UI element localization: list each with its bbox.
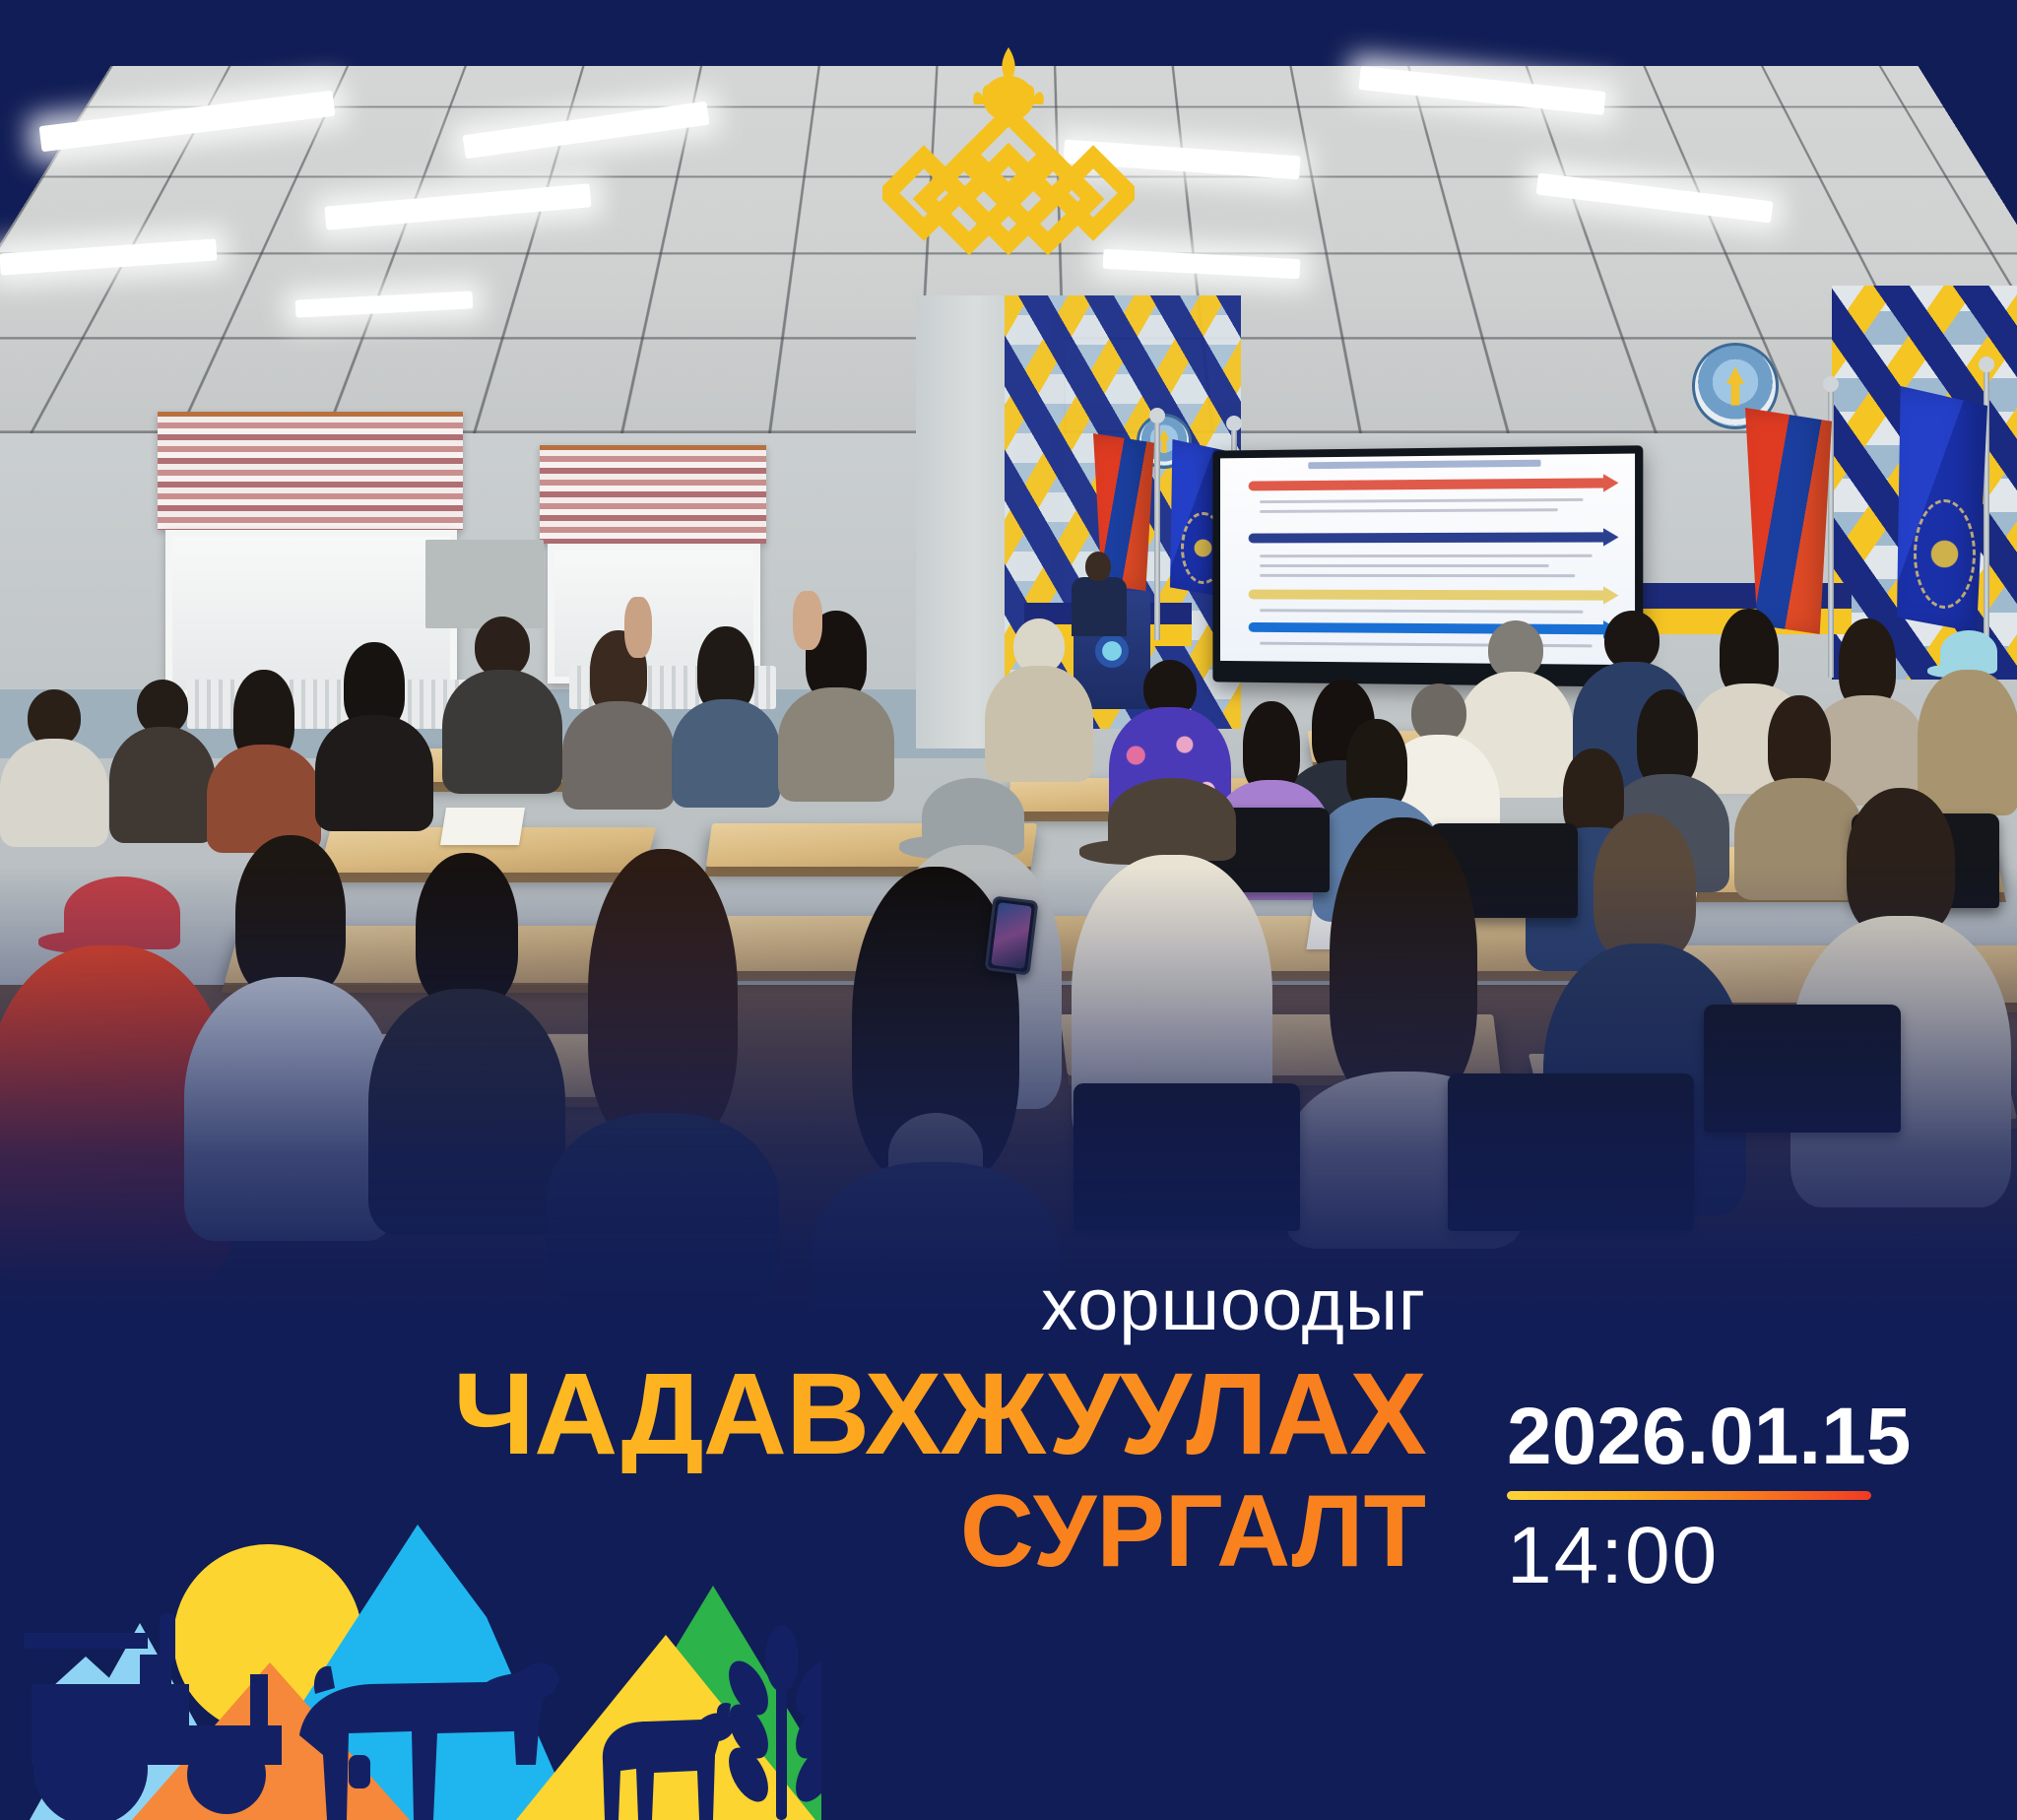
slide-text-line <box>1261 508 1558 513</box>
schedule-block: 2026.01.15 14:00 <box>1507 1397 1940 1596</box>
attendee <box>315 642 433 819</box>
slide-arrow-red <box>1248 478 1604 490</box>
attendee <box>985 618 1093 786</box>
flag-pole <box>1154 423 1160 640</box>
attendee <box>108 680 217 837</box>
speaker-head <box>1085 552 1111 581</box>
attendee <box>443 617 561 794</box>
event-time: 14:00 <box>1507 1516 1940 1596</box>
attendee <box>1920 630 2017 808</box>
chair-back <box>1448 1073 1694 1231</box>
agriculture-illustration <box>24 1430 821 1820</box>
attendee <box>0 689 108 837</box>
slide-arrow-navy <box>1248 532 1604 543</box>
slide-text-line <box>1261 554 1593 557</box>
attendee-raised-hand <box>788 591 827 650</box>
title-kicker: хоршоодыг <box>0 1268 1426 1341</box>
window-blind <box>540 445 766 544</box>
window-blind <box>158 412 463 530</box>
attendee <box>1792 788 2009 1202</box>
attendee <box>207 670 321 837</box>
chair-back <box>1074 1083 1300 1231</box>
slide-heading <box>1309 460 1541 469</box>
attendee-long-hair <box>552 849 774 1282</box>
attendee-raised-hand <box>618 597 658 658</box>
slide-arrow-yellow <box>1248 590 1604 601</box>
gradient-divider <box>1507 1491 1871 1500</box>
slide-text-line <box>1261 574 1575 577</box>
wall-notice-board <box>425 540 544 628</box>
attendee <box>370 853 563 1227</box>
smartphone <box>985 895 1039 975</box>
slide-text-line <box>1261 564 1549 567</box>
event-date: 2026.01.15 <box>1507 1397 1940 1477</box>
mongolia-flag <box>1745 408 1832 634</box>
poster-root: хоршоодыг ЧАДАВХЖУУЛАХ СУРГАЛТ 2026.01.1… <box>0 0 2017 1820</box>
ulzii-endless-knot-icon <box>882 47 1135 256</box>
slide-text-line <box>1261 498 1584 503</box>
slide-text-line <box>1261 609 1584 614</box>
organization-flag <box>1897 386 1987 632</box>
attendee <box>672 626 780 794</box>
paper-sheet <box>440 808 525 845</box>
chair-back <box>1704 1005 1901 1133</box>
attendee <box>187 835 394 1229</box>
